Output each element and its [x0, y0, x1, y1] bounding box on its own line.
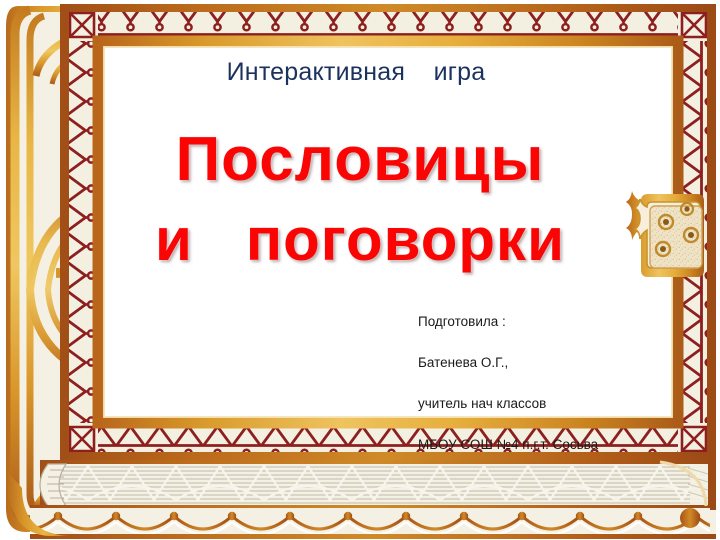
credit-block: Подготовила : Батенева О.Г., учитель нач… — [418, 291, 668, 476]
title-line-1: Пословицы — [60, 129, 660, 191]
title-line-2: и поговорки — [60, 210, 660, 270]
credit-line-1: Подготовила : — [418, 312, 668, 333]
credit-line-3: учитель нач классов — [418, 394, 668, 415]
credit-line-4: МБОУ СОШ №4 п.г.т. Сосьва — [418, 435, 668, 456]
credit-line-2: Батенева О.Г., — [418, 353, 668, 374]
slide-root: Интерактивная игра Пословицы и поговорки… — [0, 0, 720, 540]
text-layer: Интерактивная игра Пословицы и поговорки… — [0, 0, 720, 540]
kicker-text: Интерактивная игра — [96, 58, 616, 87]
